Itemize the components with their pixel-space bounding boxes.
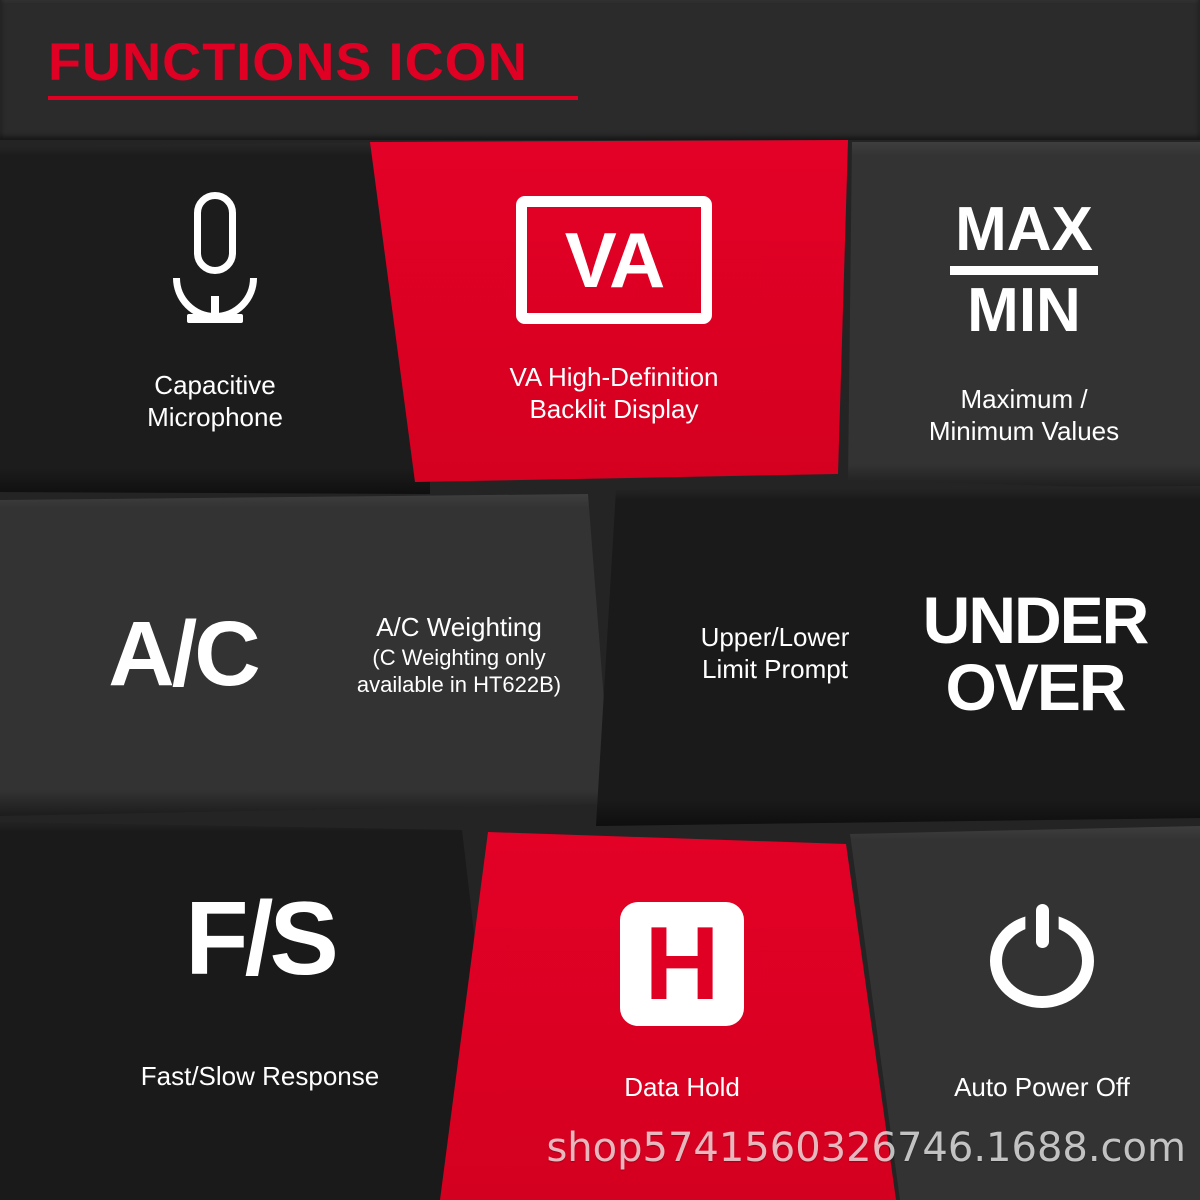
ac-weighting-icon: A/C [58, 611, 308, 698]
page-title: FUNCTIONS ICON [48, 36, 589, 89]
header-bar: FUNCTIONS ICON [0, 0, 1200, 140]
under-over-icon: UNDER OVER [900, 587, 1170, 722]
panel-ac-weighting[interactable]: A/C A/C Weighting (C Weighting only avai… [0, 494, 620, 816]
panel-caption: Capacitive Microphone [50, 370, 380, 433]
panel-caption: A/C Weighting [314, 612, 604, 644]
fast-slow-icon: F/S [60, 890, 460, 989]
panel-caption: Upper/Lower Limit Prompt [660, 622, 890, 685]
page-title-group: FUNCTIONS ICON [48, 36, 578, 100]
panel-caption: Data Hold [532, 1072, 832, 1104]
fraction-bar [950, 266, 1098, 275]
panel-capacitive-microphone[interactable]: Capacitive Microphone [0, 142, 430, 494]
panel-caption: VA High-Definition Backlit Display [399, 362, 829, 425]
max-label: MAX [955, 198, 1093, 261]
hold-icon-label: H [644, 912, 719, 1016]
panel-auto-power-off[interactable]: Auto Power Off [846, 826, 1200, 1200]
panel-caption: Auto Power Off [892, 1072, 1192, 1104]
power-icon [990, 904, 1094, 1008]
microphone-icon [167, 192, 263, 324]
va-icon-label: VA [565, 221, 664, 299]
panel-limit-prompt[interactable]: Upper/Lower Limit Prompt UNDER OVER [596, 486, 1200, 826]
panel-data-hold[interactable]: H Data Hold [440, 818, 910, 1200]
functions-icon-infographic: FUNCTIONS ICON Capacitive Microphone VA … [0, 0, 1200, 1200]
panel-caption: Fast/Slow Response [50, 1061, 470, 1093]
min-label: MIN [967, 279, 1081, 342]
max-min-icon: MAX MIN [950, 198, 1098, 342]
va-display-icon: VA [516, 196, 712, 324]
panel-va-display[interactable]: VA VA High-Definition Backlit Display [330, 140, 870, 492]
panel-max-min[interactable]: MAX MIN Maximum / Minimum Values [848, 142, 1200, 490]
panel-caption: Maximum / Minimum Values [854, 384, 1194, 447]
panel-caption-note: (C Weighting only available in HT622B) [314, 645, 604, 698]
data-hold-icon: H [620, 902, 744, 1026]
title-underline [48, 96, 578, 100]
panel-fast-slow-response[interactable]: F/S Fast/Slow Response [0, 818, 520, 1200]
